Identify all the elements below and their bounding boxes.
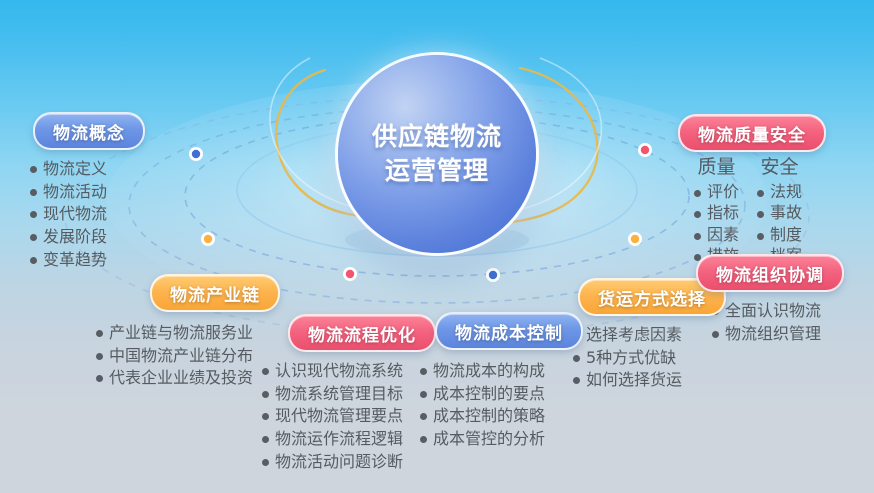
list-item-label: 变革趋势 — [43, 249, 107, 272]
list-item: 事故 — [757, 202, 802, 223]
list-item-label: 指标 — [707, 203, 739, 222]
list-item: 成本控制的策略 — [420, 405, 545, 428]
list-item-label: 成本控制的要点 — [433, 383, 545, 406]
list-item: 现代物流管理要点 — [262, 405, 403, 428]
list-item: 法规 — [757, 181, 802, 202]
list-item-label: 5种方式优缺 — [586, 347, 676, 370]
list-item: 中国物流产业链分布 — [96, 345, 253, 368]
list-item: 物流运作流程逻辑 — [262, 428, 403, 451]
node-pill-logistics-concept[interactable]: 物流概念 — [33, 112, 145, 150]
list-item: 物流活动 — [30, 181, 107, 204]
list-item-label: 现代物流 — [43, 203, 107, 226]
center-sphere: 供应链物流 运营管理 — [338, 55, 536, 253]
orbit-marker-orange-left — [201, 232, 215, 246]
bullet-dot — [30, 189, 37, 196]
bullet-dot — [420, 391, 427, 398]
bullet-dot — [420, 368, 427, 375]
bullet-dot — [262, 459, 269, 466]
list-item-label: 发展阶段 — [43, 226, 107, 249]
node-list-logistics-org-coordination: 全面认识物流 物流组织管理 — [712, 300, 821, 345]
subgroup-title: 安全 — [757, 156, 802, 180]
bullet-dot — [96, 353, 103, 360]
bullet-dot — [96, 330, 103, 337]
node-list-logistics-industry-chain: 产业链与物流服务业 中国物流产业链分布 代表企业业绩及投资 — [96, 322, 253, 390]
bullet-dot — [694, 211, 701, 218]
bullet-dot — [96, 375, 103, 382]
list-item: 制度 — [757, 224, 802, 245]
list-item: 因素 — [694, 224, 739, 245]
list-item: 物流成本的构成 — [420, 360, 545, 383]
orbit-marker-red-bottom — [343, 267, 357, 281]
node-pill-logistics-org-coordination[interactable]: 物流组织协调 — [696, 254, 844, 292]
node-pill-logistics-process-optimization[interactable]: 物流流程优化 — [288, 314, 436, 352]
node-pill-logistics-industry-chain[interactable]: 物流产业链 — [150, 274, 280, 312]
node-pill-logistics-quality-safety[interactable]: 物流质量安全 — [678, 114, 826, 152]
node-list-logistics-process-optimization: 认识现代物流系统 物流系统管理目标 现代物流管理要点 物流运作流程逻辑 物流活动… — [262, 360, 403, 474]
list-item-label: 如何选择货运 — [586, 369, 682, 392]
list-item-label: 中国物流产业链分布 — [109, 345, 253, 368]
bullet-dot — [573, 377, 580, 384]
bullet-dot — [30, 166, 37, 173]
subgroup-safety: 安全 法规 事故 制度 档案 — [757, 156, 802, 267]
list-item: 全面认识物流 — [712, 300, 821, 323]
node-list-logistics-concept: 物流定义 物流活动 现代物流 发展阶段 变革趋势 — [30, 158, 107, 272]
bullet-dot — [262, 413, 269, 420]
list-item-label: 认识现代物流系统 — [275, 360, 403, 383]
list-item-label: 物流组织管理 — [725, 323, 821, 346]
list-item-label: 全面认识物流 — [725, 300, 821, 323]
bullet-dot — [757, 211, 764, 218]
list-item-label: 选择考虑因素 — [586, 324, 682, 347]
list-item-label: 成本控制的策略 — [433, 405, 545, 428]
list-item-label: 物流活动问题诊断 — [275, 451, 403, 474]
bullet-dot — [694, 233, 701, 240]
node-list-logistics-cost-control: 物流成本的构成 成本控制的要点 成本控制的策略 成本管控的分析 — [420, 360, 545, 451]
bullet-dot — [757, 190, 764, 197]
list-item-label: 事故 — [770, 203, 802, 222]
bullet-dot — [420, 413, 427, 420]
list-item: 变革趋势 — [30, 249, 107, 272]
list-item-label: 法规 — [770, 182, 802, 201]
list-item: 成本管控的分析 — [420, 428, 545, 451]
bullet-dot — [573, 355, 580, 362]
center-title-line2: 运营管理 — [385, 154, 489, 188]
list-item-label: 物流系统管理目标 — [275, 383, 403, 406]
bullet-dot — [694, 190, 701, 197]
list-item: 如何选择货运 — [573, 369, 682, 392]
bullet-dot — [757, 233, 764, 240]
list-item-label: 因素 — [707, 225, 739, 244]
orbit-marker-orange-right — [628, 232, 642, 246]
list-item: 物流活动问题诊断 — [262, 451, 403, 474]
list-item-label: 成本管控的分析 — [433, 428, 545, 451]
bullet-dot — [262, 391, 269, 398]
list-item: 指标 — [694, 202, 739, 223]
list-item-label: 评价 — [707, 182, 739, 201]
orbit-marker-red-right — [638, 143, 652, 157]
list-item-label: 物流运作流程逻辑 — [275, 428, 403, 451]
list-item-label: 现代物流管理要点 — [275, 405, 403, 428]
list-item-label: 物流定义 — [43, 158, 107, 181]
bullet-dot — [262, 368, 269, 375]
node-subgroups-logistics-quality-safety: 质量 评价 指标 因素 措施 安全 法规 事故 制度 档案 — [694, 156, 802, 267]
list-item: 认识现代物流系统 — [262, 360, 403, 383]
list-item: 产业链与物流服务业 — [96, 322, 253, 345]
orbit-marker-blue-left — [189, 147, 203, 161]
bullet-dot — [712, 331, 719, 338]
list-item: 现代物流 — [30, 203, 107, 226]
list-item: 物流组织管理 — [712, 323, 821, 346]
list-item: 5种方式优缺 — [573, 347, 682, 370]
bullet-dot — [262, 436, 269, 443]
list-item: 选择考虑因素 — [573, 324, 682, 347]
bullet-dot — [30, 234, 37, 241]
list-item-label: 产业链与物流服务业 — [109, 322, 253, 345]
subgroup-quality: 质量 评价 指标 因素 措施 — [694, 156, 739, 267]
list-item-label: 物流活动 — [43, 181, 107, 204]
list-item: 物流定义 — [30, 158, 107, 181]
list-item: 代表企业业绩及投资 — [96, 367, 253, 390]
subgroup-title: 质量 — [694, 156, 739, 180]
list-item: 发展阶段 — [30, 226, 107, 249]
list-item: 物流系统管理目标 — [262, 383, 403, 406]
node-pill-logistics-cost-control[interactable]: 物流成本控制 — [435, 312, 583, 350]
list-item-label: 物流成本的构成 — [433, 360, 545, 383]
center-title-line1: 供应链物流 — [372, 120, 502, 154]
list-item-label: 制度 — [770, 225, 802, 244]
bullet-dot — [420, 436, 427, 443]
list-item-label: 代表企业业绩及投资 — [109, 367, 253, 390]
list-item: 成本控制的要点 — [420, 383, 545, 406]
bullet-dot — [30, 211, 37, 218]
orbit-marker-blue-bottom — [486, 268, 500, 282]
node-list-freight-mode-selection: 选择考虑因素 5种方式优缺 如何选择货运 — [573, 324, 682, 392]
list-item: 评价 — [694, 181, 739, 202]
infographic-canvas: 供应链物流 运营管理 物流概念 物流定义 物流活动 现代物流 发展阶段 变革趋势… — [0, 0, 874, 493]
bullet-dot — [30, 257, 37, 264]
